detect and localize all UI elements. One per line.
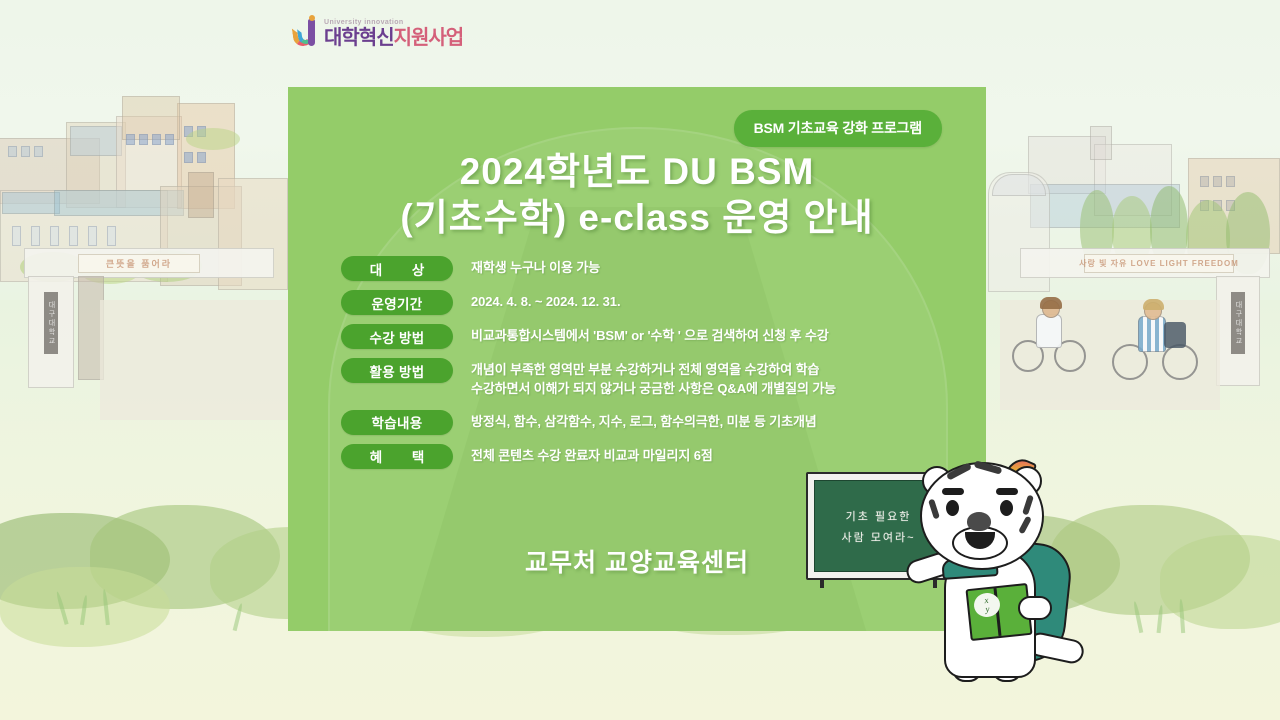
program-badge: BSM 기초교육 강화 프로그램 xyxy=(734,110,942,147)
info-row: 운영기간2024. 4. 8. ~ 2024. 12. 31. xyxy=(341,290,951,315)
building xyxy=(1090,126,1112,160)
mascot-eye xyxy=(946,500,959,516)
cyclist xyxy=(1010,300,1090,378)
info-row: 학습내용방정식, 함수, 삼각함수, 지수, 로그, 함수의극한, 미분 등 기… xyxy=(341,410,951,435)
info-row-value: 비교과통합시스템에서 'BSM' or '수학 ' 으로 검색하여 신청 후 수… xyxy=(471,324,829,346)
building xyxy=(2,192,60,214)
info-row-label: 수강 방법 xyxy=(341,324,453,349)
info-row-label: 운영기간 xyxy=(341,290,453,315)
logo-mark-icon xyxy=(293,18,319,48)
info-row-value-line: 개념이 부족한 영역만 부분 수강하거나 전체 영역을 수강하여 학습 xyxy=(471,361,836,380)
info-row-value: 2024. 4. 8. ~ 2024. 12. 31. xyxy=(471,290,620,312)
window-row xyxy=(126,134,174,145)
title-line-2: (기초수학) e-class 운영 안내 xyxy=(288,195,986,241)
info-row-value-line: 재학생 누구나 이용 가능 xyxy=(471,259,600,278)
logo-korean-text: 대학혁신지원사업 xyxy=(324,28,463,48)
info-row-value-line: 2024. 4. 8. ~ 2024. 12. 31. xyxy=(471,293,620,312)
gate-post-banner-left: 대구대학교 xyxy=(44,292,58,354)
window-row xyxy=(1200,176,1235,187)
info-row-label: 혜 택 xyxy=(341,444,453,469)
info-row: 활용 방법개념이 부족한 영역만 부분 수강하거나 전체 영역을 수강하여 학습… xyxy=(341,358,951,399)
mascot-nose xyxy=(967,512,991,531)
gate-post-banner-right: 대구대학교 xyxy=(1231,292,1245,354)
info-row-label: 활용 방법 xyxy=(341,358,453,383)
title-line-1: 2024학년도 DU BSM xyxy=(460,151,815,192)
info-row-value-line: 전체 콘텐츠 수강 완료자 비교과 마일리지 6점 xyxy=(471,447,713,466)
info-row: 수강 방법비교과통합시스템에서 'BSM' or '수학 ' 으로 검색하여 신… xyxy=(341,324,951,349)
logo-korean-part2: 지원사업 xyxy=(394,27,464,49)
plaza xyxy=(100,300,290,420)
page-title: 2024학년도 DU BSM (기초수학) e-class 운영 안내 xyxy=(288,149,986,241)
info-rows: 대 상재학생 누구나 이용 가능운영기간2024. 4. 8. ~ 2024. … xyxy=(341,256,951,478)
mascot-holding-arm xyxy=(1018,596,1052,620)
info-row-value-line: 비교과통합시스템에서 'BSM' or '수학 ' 으로 검색하여 신청 후 수… xyxy=(471,327,829,346)
window-row xyxy=(8,146,43,157)
mascot-eyebrow xyxy=(996,488,1018,495)
cyclist xyxy=(1110,302,1204,384)
info-row-value: 개념이 부족한 영역만 부분 수강하거나 전체 영역을 수강하여 학습수강하면서… xyxy=(471,358,836,399)
building xyxy=(992,174,1046,196)
mascot-eye xyxy=(1000,500,1013,516)
info-row-label: 학습내용 xyxy=(341,410,453,435)
info-row-value-line: 방정식, 함수, 삼각함수, 지수, 로그, 함수의극한, 미분 등 기초개념 xyxy=(471,413,817,432)
info-row-value: 방정식, 함수, 삼각함수, 지수, 로그, 함수의극한, 미분 등 기초개념 xyxy=(471,410,817,432)
book-badge-bottom: y xyxy=(985,605,990,614)
info-row-value: 전체 콘텐츠 수강 완료자 비교과 마일리지 6점 xyxy=(471,444,713,466)
bush xyxy=(186,128,240,150)
logo-text: University innovation 대학혁신지원사업 xyxy=(324,19,463,48)
window-row xyxy=(184,152,206,163)
logo-english-text: University innovation xyxy=(324,19,463,26)
building xyxy=(70,126,122,156)
info-row-value: 재학생 누구나 이용 가능 xyxy=(471,256,600,278)
university-innovation-logo: University innovation 대학혁신지원사업 xyxy=(293,18,463,48)
logo-korean-part1: 대학혁신 xyxy=(324,27,394,49)
info-row: 대 상재학생 누구나 이용 가능 xyxy=(341,256,951,281)
bush xyxy=(1160,535,1280,629)
gate-sign-right: 사랑 빛 자유 LOVE LIGHT FREEDOM xyxy=(1084,254,1234,273)
mascot-eyebrow xyxy=(942,488,964,495)
info-row: 혜 택전체 콘텐츠 수강 완료자 비교과 마일리지 6점 xyxy=(341,444,951,469)
info-row-value-line: 수강하면서 이해가 되지 않거나 궁금한 사항은 Q&A에 개별질의 가능 xyxy=(471,380,836,399)
info-row-label: 대 상 xyxy=(341,256,453,281)
gate-sign-left: 큰뜻을 품어라 xyxy=(78,254,200,273)
building xyxy=(188,172,214,218)
tiger-mascot: x y xyxy=(900,448,1115,710)
window-row xyxy=(12,226,116,246)
